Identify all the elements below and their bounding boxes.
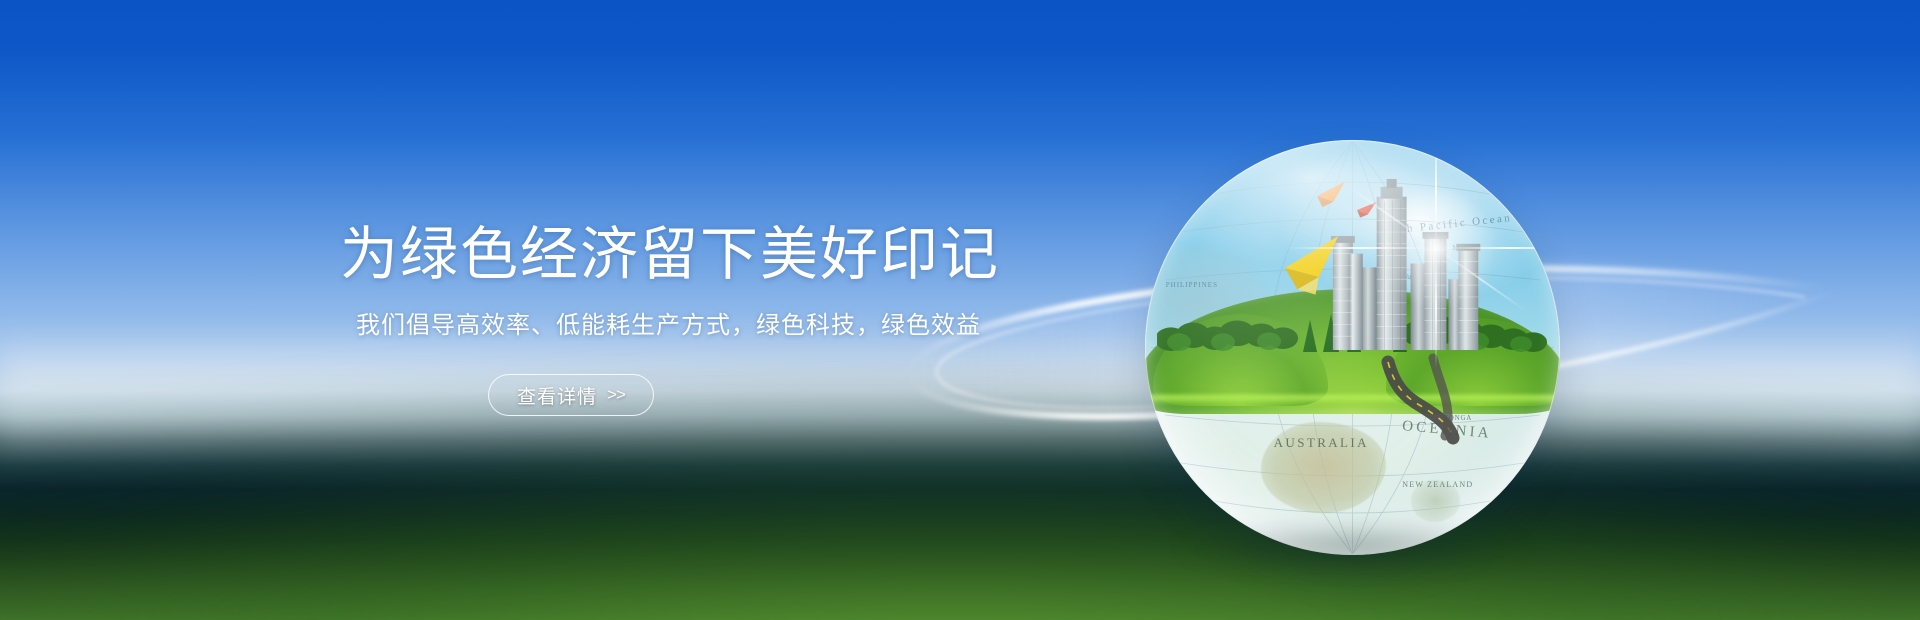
green-hill-rim-glow bbox=[1145, 395, 1560, 404]
view-details-label: 查看详情 bbox=[517, 382, 597, 409]
double-chevron-right-icon: >> bbox=[607, 385, 625, 405]
glass-globe: North Pacific Ocean OCEANIA AUSTRALIA NE… bbox=[1145, 140, 1560, 555]
map-label-australia: AUSTRALIA bbox=[1274, 435, 1369, 451]
map-label-oceania: OCEANIA bbox=[1402, 418, 1493, 443]
map-label-tonga: TONGA bbox=[1444, 414, 1472, 422]
landmass-australia bbox=[1261, 422, 1386, 513]
view-details-button[interactable]: 查看详情 >> bbox=[488, 374, 654, 416]
page-subtitle: 我们倡导高效率、低能耗生产方式，绿色科技，绿色效益 bbox=[356, 310, 1040, 342]
page-title: 为绿色经济留下美好印记 bbox=[340, 222, 1040, 288]
cta-container: 查看详情 >> bbox=[340, 374, 1040, 416]
hero-copy: 为绿色经济留下美好印记 我们倡导高效率、低能耗生产方式，绿色科技，绿色效益 查看… bbox=[340, 222, 1040, 416]
map-label-new-zealand: NEW ZEALAND bbox=[1402, 480, 1473, 489]
hero-banner: North Pacific Ocean OCEANIA AUSTRALIA NE… bbox=[0, 0, 1920, 620]
globe-illustration: North Pacific Ocean OCEANIA AUSTRALIA NE… bbox=[1145, 140, 1560, 555]
landmass-new-zealand bbox=[1411, 480, 1461, 522]
